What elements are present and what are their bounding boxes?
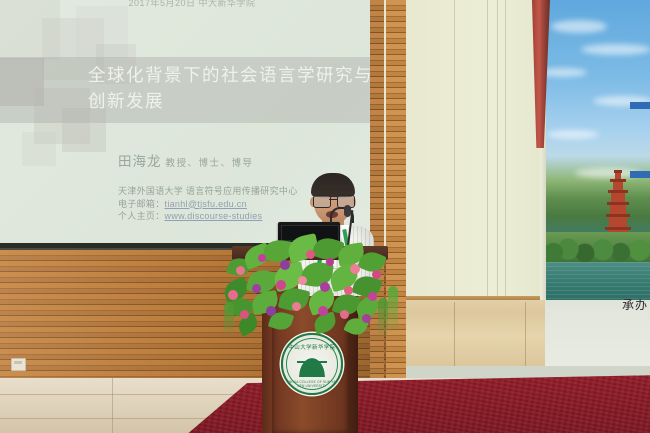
cloud [581, 44, 650, 55]
flower-bloom [306, 250, 315, 259]
slide-date: 2017年5月20日 中大新华学院 [0, 0, 384, 9]
flower-bloom [326, 258, 334, 266]
flower-bloom [344, 286, 353, 295]
flower-bloom [236, 266, 245, 275]
banner-treeline [545, 232, 650, 266]
wall-power-outlet [11, 358, 26, 371]
floor-tile-line [0, 394, 260, 395]
flower-bloom [252, 284, 261, 293]
flower-bloom [228, 290, 238, 300]
wall-seam [497, 0, 498, 300]
floor-tile-line [112, 378, 113, 433]
flower-bloom [318, 306, 328, 316]
blue-bracket-graphic [630, 102, 650, 178]
homepage-value: www.discourse-studies [165, 211, 263, 221]
flower-bloom [340, 310, 349, 319]
hanging-vine [378, 298, 388, 338]
wall-seam [454, 0, 455, 300]
email-label: 电子邮箱： [118, 199, 165, 209]
flower-bloom [266, 306, 276, 316]
speaker-name: 田海龙 [118, 154, 162, 169]
flower-bloom [320, 282, 330, 292]
flower-bloom [298, 276, 307, 285]
speaker-hair [311, 173, 355, 197]
cloud [551, 20, 607, 33]
college-emblem: 中山大学新华学院 XINHUA COLLEGE OF SUN YAT-SEN U… [281, 333, 343, 395]
lecture-photo: 2017年5月20日 中大新华学院 全球化背景下的社会语言学研究与创新发展 田海… [0, 0, 650, 433]
flower-bloom [240, 310, 249, 319]
cloud [545, 68, 587, 77]
hanging-vine [224, 302, 234, 336]
wainscot-seam [454, 302, 455, 366]
flower-bloom [292, 302, 301, 311]
slide-title: 全球化背景下的社会语言学研究与创新发展 [88, 62, 378, 114]
flower-bloom [350, 264, 360, 274]
flower-bloom [362, 314, 371, 323]
flower-bloom [280, 260, 290, 270]
hanging-vine [388, 286, 398, 334]
email-value: tianhl@tjsfu.edu.cn [165, 199, 247, 209]
banner-lake [545, 262, 650, 300]
wainscot-seam [525, 302, 526, 366]
homepage-label: 个人主页： [118, 211, 165, 221]
decor-square [22, 132, 56, 166]
slide-speaker: 田海龙教授、博士、博导 [118, 150, 254, 170]
flower-bloom [368, 292, 377, 301]
emblem-chinese-text: 中山大学新华学院 [283, 343, 341, 351]
microphone-head [344, 205, 351, 217]
glasses-bridge [329, 199, 337, 200]
flower-arrangement [222, 236, 398, 340]
wall-seam [505, 0, 506, 300]
speaker-titles: 教授、博士、博导 [166, 158, 254, 169]
lens-left [313, 195, 331, 208]
cloud [547, 130, 599, 139]
flower-bloom [372, 270, 381, 279]
emblem-english-text: XINHUA COLLEGE OF SUN YAT-SEN UNIVERSITY [283, 380, 341, 388]
wall-seam [487, 0, 488, 300]
flower-bloom [276, 280, 286, 290]
roll-up-banner [545, 0, 650, 300]
flower-bloom [258, 254, 266, 262]
floor-tile-line [0, 418, 230, 419]
emblem-gate-icon [297, 355, 327, 377]
banner-footer-text: 承办 [622, 296, 648, 313]
